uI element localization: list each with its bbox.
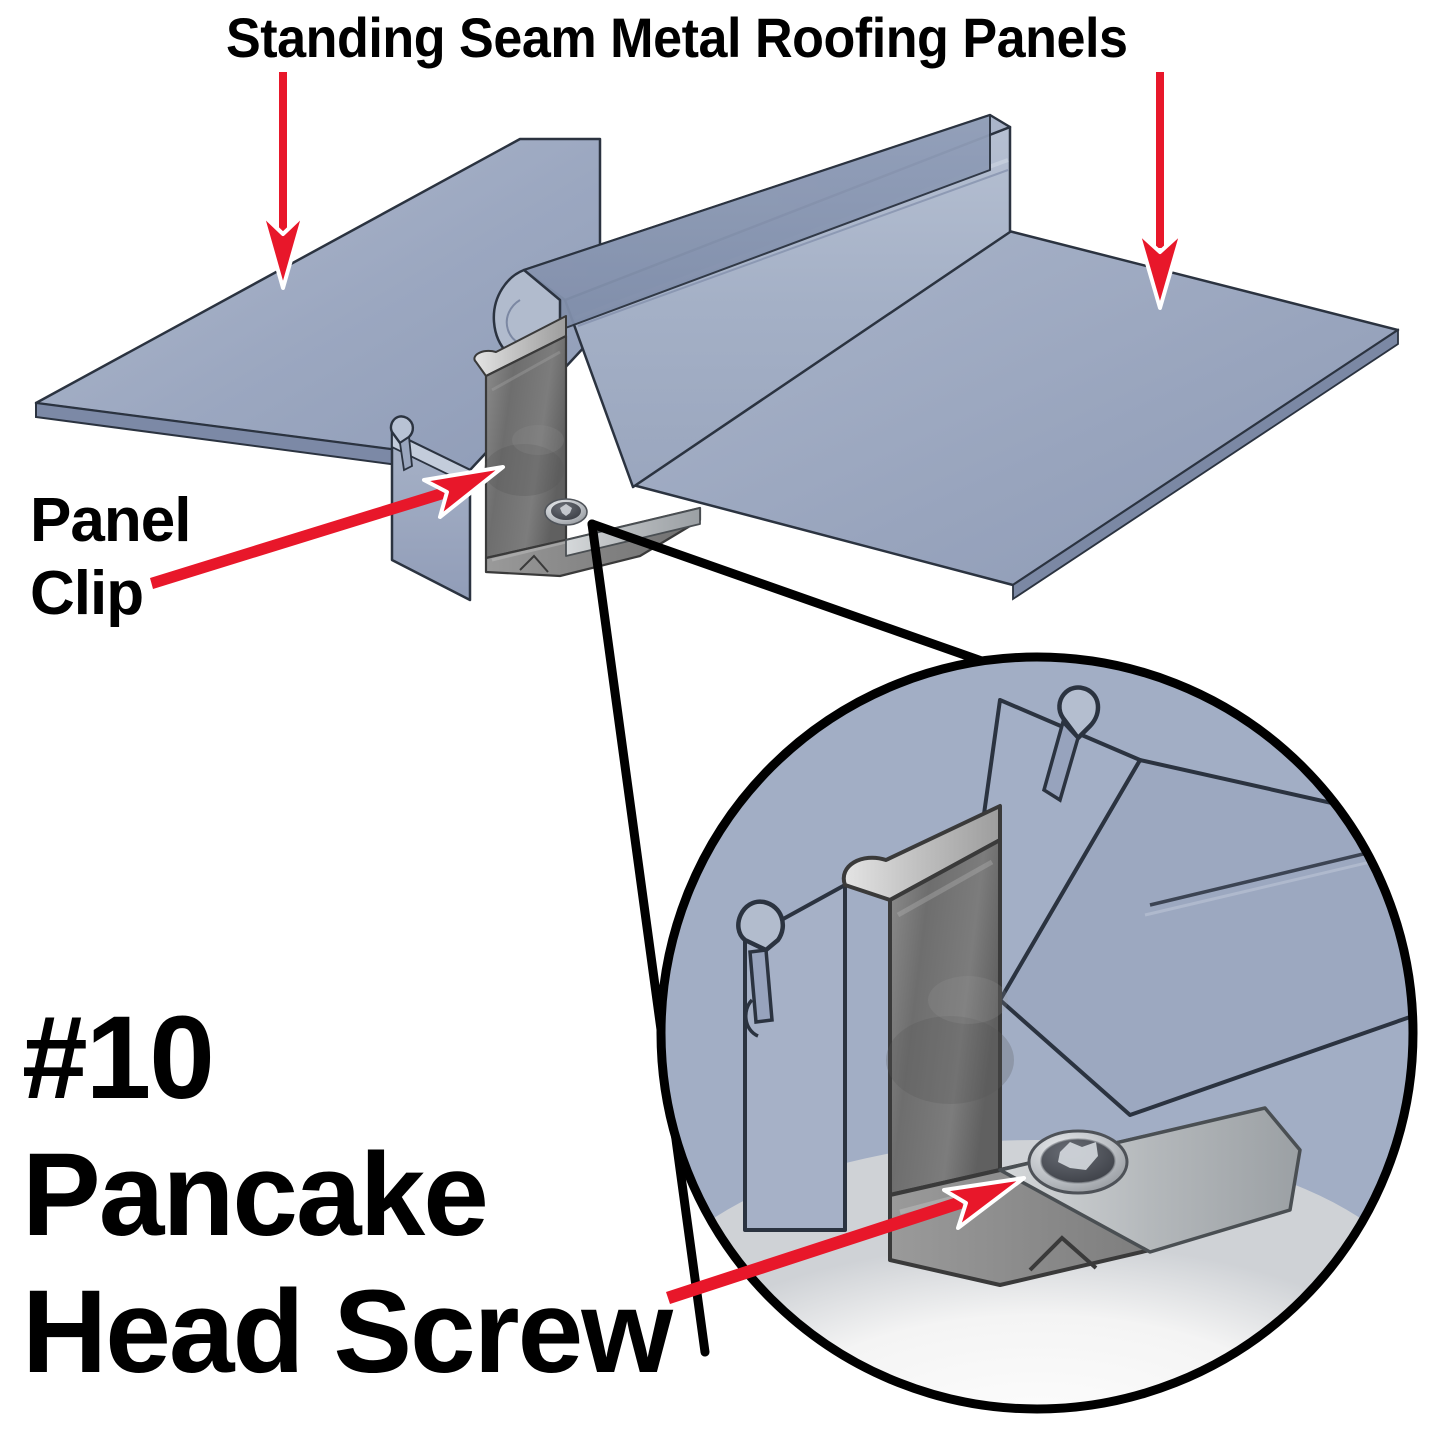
pancake-screw-label-line1: #10 [22, 992, 213, 1124]
page-title: Standing Seam Metal Roofing Panels [226, 10, 1128, 66]
detail-magnifier [637, 650, 1437, 1445]
panel-clip-label-line1: Panel [30, 486, 190, 555]
main-assembly [36, 115, 1398, 600]
pancake-screw-label-line2: Pancake [22, 1129, 487, 1261]
arrow-left-panel-icon [262, 72, 304, 288]
pancake-screw-label-line3: Head Screw [22, 1266, 671, 1398]
diagram-page: Standing Seam Metal Roofing Panels Panel… [0, 0, 1445, 1445]
pancake-screw-label: #10PancakeHead Screw [22, 990, 671, 1401]
pancake-head-screw-detail [1029, 1131, 1127, 1193]
panel-clip-label-line2: Clip [30, 559, 143, 628]
panel-clip-label: PanelClip [30, 484, 190, 630]
pancake-head-screw [545, 499, 587, 525]
